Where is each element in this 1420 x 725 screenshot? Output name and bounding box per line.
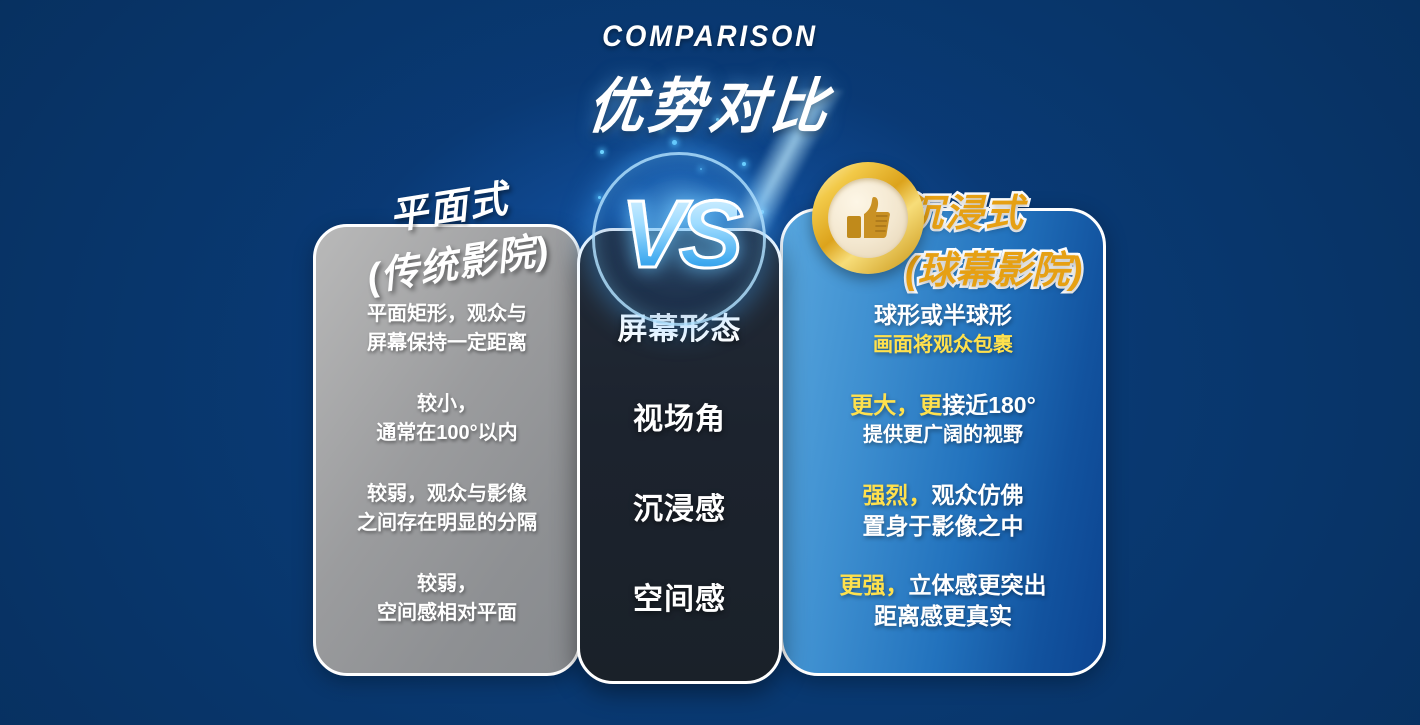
right-row-line1: 更大，更接近180° <box>780 390 1106 421</box>
right-panel-rows: 球形或半球形 画面将观众包裹 更大，更接近180° 提供更广阔的视野 强烈，观众… <box>780 300 1106 660</box>
left-row: 较弱， 空间感相对平面 <box>313 570 581 660</box>
thumbs-up-medal-icon <box>812 162 924 274</box>
right-row: 强烈，观众仿佛 置身于影像之中 <box>780 480 1106 570</box>
center-panel-labels: 屏幕形态 视场角 沉浸感 空间感 <box>577 304 782 664</box>
right-row-line1: 强烈，观众仿佛 <box>780 480 1106 511</box>
right-row: 更强，立体感更突出 距离感更真实 <box>780 570 1106 660</box>
comparison-infographic: COMPARISON 优势对比 平面式 (传统影院) 平面矩形，观众与 屏幕保持… <box>0 0 1420 725</box>
right-row-line1-plain: 立体感更突出 <box>909 572 1047 598</box>
page-title: 优势对比 <box>31 58 1389 145</box>
left-row-line1: 较弱， <box>313 570 581 599</box>
page-header: COMPARISON 优势对比 <box>0 20 1420 145</box>
medal-inner <box>828 178 908 258</box>
header-kicker: COMPARISON <box>57 20 1363 54</box>
left-row-line2: 通常在100°以内 <box>313 419 581 448</box>
right-row-line2: 距离感更真实 <box>780 601 1106 632</box>
left-row-line2: 空间感相对平面 <box>313 599 581 628</box>
right-title-line1: 沉浸式 <box>905 182 1135 237</box>
left-panel-rows: 平面矩形，观众与 屏幕保持一定距离 较小， 通常在100°以内 较弱，观众与影像… <box>313 300 581 660</box>
right-row-line1-hi: 更大，更 <box>850 392 942 418</box>
right-panel-title: 沉浸式 (球幕影院) <box>905 182 1135 294</box>
left-row-line1: 较小， <box>313 390 581 419</box>
right-title-line2: (球幕影院) <box>905 239 1135 294</box>
center-row: 沉浸感 <box>577 484 782 574</box>
left-row: 较弱，观众与影像 之间存在明显的分隔 <box>313 480 581 570</box>
center-label: 沉浸感 <box>633 484 726 528</box>
center-row: 空间感 <box>577 574 782 664</box>
right-row: 球形或半球形 画面将观众包裹 <box>780 300 1106 390</box>
right-row-line1-hi: 强烈， <box>863 482 932 508</box>
left-row-line2: 之间存在明显的分隔 <box>313 509 581 538</box>
right-row-line1-plain: 观众仿佛 <box>932 482 1024 508</box>
right-row-line1-plain: 接近180° <box>942 392 1036 418</box>
right-row-line2: 置身于影像之中 <box>780 511 1106 542</box>
right-row-line2: 提供更广阔的视野 <box>780 421 1106 450</box>
thumbs-up-icon <box>842 192 894 244</box>
center-row: 视场角 <box>577 394 782 484</box>
right-row-line2-hi: 画面将观众包裹 <box>873 334 1013 356</box>
right-row-line1: 更强，立体感更突出 <box>780 570 1106 601</box>
right-row-line2-plain: 距离感更真实 <box>874 603 1012 629</box>
left-row: 平面矩形，观众与 屏幕保持一定距离 <box>313 300 581 390</box>
left-row: 较小， 通常在100°以内 <box>313 390 581 480</box>
vs-badge: VS <box>592 152 766 326</box>
center-label: 视场角 <box>633 394 726 438</box>
right-row-line1-plain: 球形或半球形 <box>874 302 1012 328</box>
center-label: 空间感 <box>633 574 726 618</box>
right-row-line2-plain: 置身于影像之中 <box>863 513 1024 539</box>
left-row-line2: 屏幕保持一定距离 <box>313 329 581 358</box>
right-row-line2: 画面将观众包裹 <box>780 331 1106 360</box>
vs-label: VS <box>621 180 737 290</box>
left-row-line1: 平面矩形，观众与 <box>313 300 581 329</box>
right-row-line1-hi: 更强， <box>840 572 909 598</box>
right-row-line2-plain: 提供更广阔的视野 <box>863 424 1023 446</box>
left-row-line1: 较弱，观众与影像 <box>313 480 581 509</box>
right-row-line1: 球形或半球形 <box>780 300 1106 331</box>
right-row: 更大，更接近180° 提供更广阔的视野 <box>780 390 1106 480</box>
